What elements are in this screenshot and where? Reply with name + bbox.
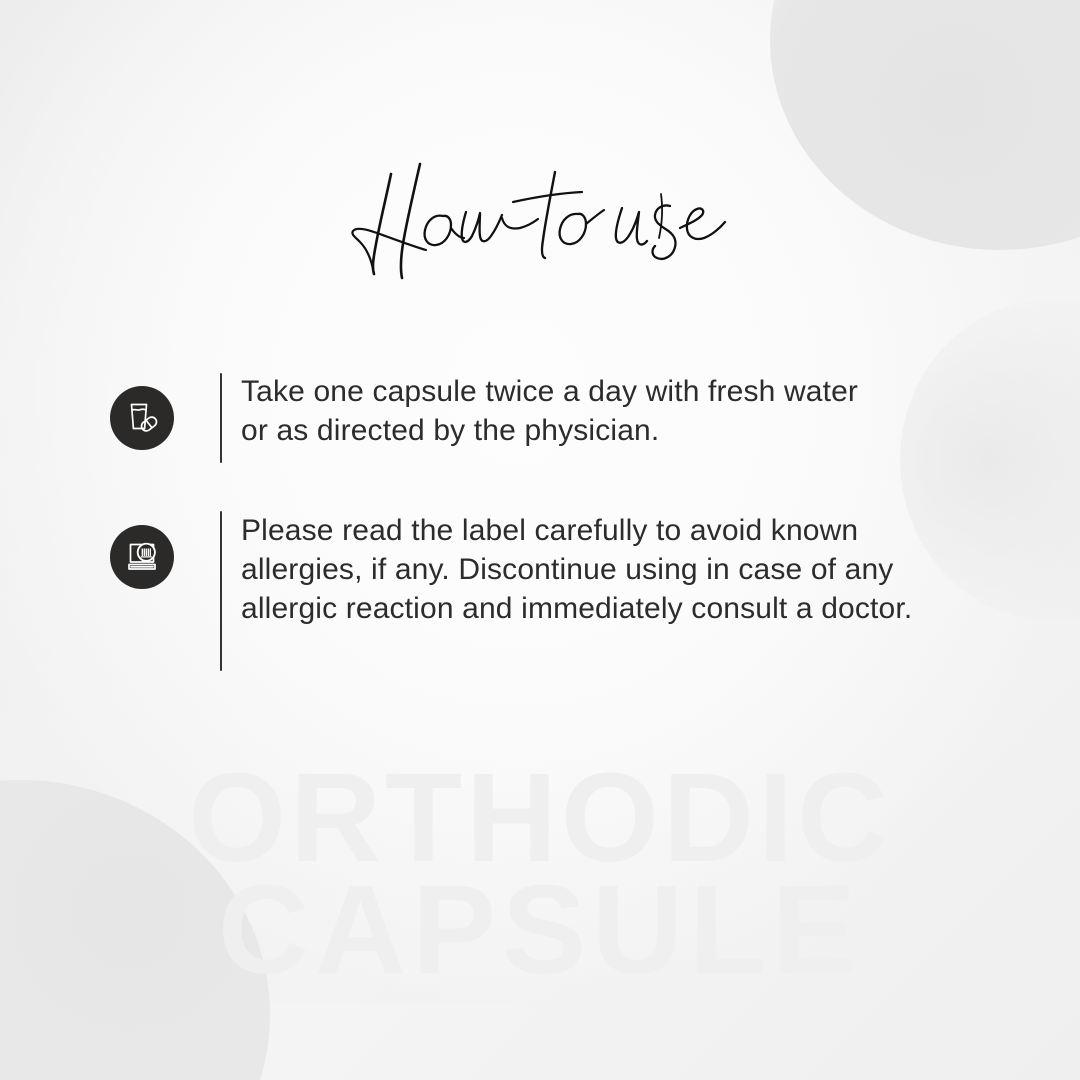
instruction-item: Please read the label carefully to avoid… xyxy=(110,511,1010,671)
instruction-item: Take one capsule twice a day with fresh … xyxy=(110,372,1010,463)
instruction-text-container: Take one capsule twice a day with fresh … xyxy=(237,372,1010,450)
instruction-divider-container xyxy=(205,511,237,671)
instruction-icon-container xyxy=(110,372,205,450)
icon-badge xyxy=(110,525,174,589)
vertical-divider xyxy=(220,373,222,463)
icon-badge xyxy=(110,386,174,450)
label-magnifier-barcode-icon xyxy=(122,537,162,577)
instruction-text: Take one capsule twice a day with fresh … xyxy=(241,372,1010,450)
page-title: How to use xyxy=(0,158,1080,284)
vertical-divider xyxy=(220,511,222,671)
page-title-script-art xyxy=(350,158,730,284)
instruction-text: Please read the label carefully to avoid… xyxy=(241,511,1010,628)
glass-of-water-with-capsule-icon xyxy=(122,398,162,438)
instruction-icon-container xyxy=(110,511,205,589)
instruction-text-container: Please read the label carefully to avoid… xyxy=(237,511,1010,628)
poster-canvas: ORTHODIC CAPSULE How to use xyxy=(0,0,1080,1080)
instruction-list: Take one capsule twice a day with fresh … xyxy=(110,372,1010,671)
instruction-divider-container xyxy=(205,372,237,463)
